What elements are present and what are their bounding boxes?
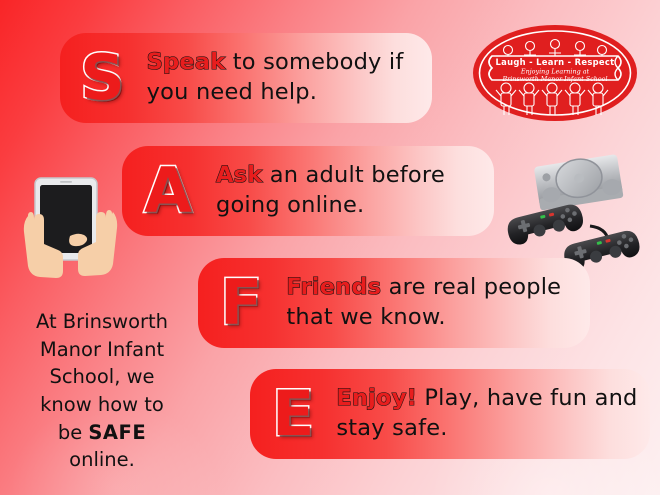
banner-keyword-f: Friends xyxy=(286,274,381,300)
safe-banner-a: A Ask an adult before going online. xyxy=(122,146,494,236)
caption-be-prefix: be xyxy=(58,421,89,444)
banner-text-s: Speak to somebody if you need help. xyxy=(147,48,418,107)
caption-line-1: At Brinsworth xyxy=(12,308,192,336)
caption-line-5: be SAFE xyxy=(12,419,192,447)
safe-online-poster: Laugh - Learn - Respect Enjoying Learnin… xyxy=(0,0,660,495)
logo-strapline-line-2: Brinsworth Manor Infant School xyxy=(501,75,607,83)
safe-banner-s: S Speak to somebody if you need help. xyxy=(60,33,432,123)
banner-text-e: Enjoy! Play, have fun and stay safe. xyxy=(336,384,650,443)
banner-keyword-a: Ask xyxy=(216,162,262,188)
safe-banner-f: F Friends are real people that we know. xyxy=(198,258,590,348)
console-unit-icon xyxy=(534,153,624,211)
banner-text-f: Friends are real people that we know. xyxy=(286,273,590,332)
school-caption: At Brinsworth Manor Infant School, we kn… xyxy=(12,308,192,474)
hands-holding-tablet-illustration xyxy=(10,168,132,296)
banner-keyword-s: Speak xyxy=(147,49,226,75)
banner-initial-letter-e: E xyxy=(272,383,314,445)
banner-initial-letter-s: S xyxy=(80,47,125,109)
banner-initial-letter-f: F xyxy=(220,272,262,334)
banner-text-a: Ask an adult before going online. xyxy=(216,161,494,220)
caption-safe-word: SAFE xyxy=(88,421,146,444)
banner-initial-letter-a: A xyxy=(144,160,192,222)
caption-line-4: know how to xyxy=(12,391,192,419)
school-logo: Laugh - Learn - Respect Enjoying Learnin… xyxy=(472,24,638,122)
caption-line-6: online. xyxy=(12,446,192,474)
caption-line-3: School, we xyxy=(12,363,192,391)
banner-keyword-e: Enjoy! xyxy=(336,385,417,411)
logo-motto: Laugh - Learn - Respect xyxy=(496,57,615,67)
caption-line-2: Manor Infant xyxy=(12,336,192,364)
safe-banner-e: E Enjoy! Play, have fun and stay safe. xyxy=(250,369,650,459)
